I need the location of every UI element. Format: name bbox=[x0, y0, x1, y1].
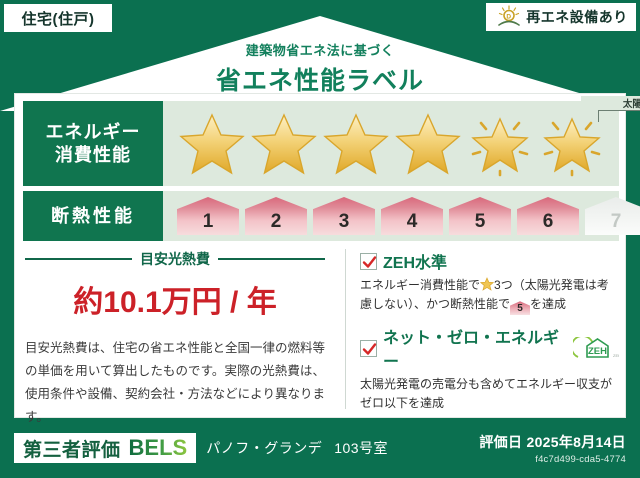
evaluation-date-value: 2025年8月14日 bbox=[526, 434, 626, 450]
bels-plate: 第三者評価 BELS bbox=[14, 433, 196, 463]
utility-cost-heading-label: 目安光熱費 bbox=[140, 249, 210, 269]
net-zero-energy-header: ネット・ゼロ・エネルギー ZEH ZEH bbox=[360, 324, 619, 372]
insulation-level-value: 4 bbox=[407, 211, 418, 233]
bels-logo-text: BELS bbox=[129, 435, 188, 461]
evaluation-date-label: 評価日 bbox=[479, 434, 522, 450]
solar-portion-bracket bbox=[598, 110, 640, 122]
zeh-standard-title: ZEH水準 bbox=[383, 249, 447, 273]
zeh-standard-body: エネルギー消費性能で3つ（太陽光発電は考慮しない）、かつ断熱性能で5を達成 bbox=[360, 276, 619, 315]
zeh-body-part3: を達成 bbox=[530, 297, 566, 311]
zeh-logo-icon: ZEH ZEH bbox=[573, 337, 619, 359]
net-zero-energy-body: 太陽光発電の売電分も含めてエネルギー収支がゼロ以下を達成 bbox=[360, 375, 619, 413]
insulation-level-badge: 1 bbox=[177, 197, 239, 235]
star-icon bbox=[321, 109, 391, 179]
insulation-level-value: 6 bbox=[543, 211, 554, 233]
star-icon bbox=[177, 109, 247, 179]
net-zero-energy-title: ネット・ゼロ・エネルギー bbox=[383, 324, 567, 372]
solar-portion-caption: 太陽光発電(自家消費)分 bbox=[581, 96, 640, 110]
star-icon bbox=[393, 109, 463, 179]
utility-cost-heading: 目安光熱費 bbox=[25, 249, 325, 269]
star-icon bbox=[249, 109, 319, 179]
renewable-equipment-label: 再エネ設備あり bbox=[526, 7, 628, 27]
insulation-level-value: 1 bbox=[203, 211, 214, 233]
zeh-standard-header: ZEH水準 bbox=[360, 249, 619, 273]
insulation-level-value: 2 bbox=[271, 211, 282, 233]
title-subtitle: 建築物省エネ法に基づく bbox=[0, 40, 640, 59]
zeh-standard-block: ZEH水準 エネルギー消費性能で3つ（太陽光発電は考慮しない）、かつ断熱性能で5… bbox=[360, 249, 619, 315]
rule-right bbox=[218, 258, 325, 260]
insulation-level-inline-badge: 5 bbox=[510, 301, 530, 315]
insulation-level-badge: 6 bbox=[517, 197, 579, 235]
energy-performance-label: エネルギー 消費性能 bbox=[23, 101, 163, 186]
label-main-card: エネルギー 消費性能 太陽光発電(自家消費)分 bbox=[14, 93, 626, 418]
insulation-level-badge: 5 bbox=[449, 197, 511, 235]
property-name: パノフ・グランデ bbox=[206, 438, 322, 458]
star-icon-solar bbox=[537, 109, 607, 179]
insulation-level-value: 5 bbox=[475, 211, 486, 233]
certification-checks-section: ZEH水準 エネルギー消費性能で3つ（太陽光発電は考慮しない）、かつ断熱性能で5… bbox=[345, 249, 619, 409]
checkbox-checked-icon bbox=[360, 340, 377, 357]
svg-text:ZEH: ZEH bbox=[588, 346, 607, 357]
property-unit: 103号室 bbox=[334, 438, 388, 458]
utility-cost-section: 目安光熱費 約10.1万円 / 年 目安光熱費は、住宅の省エネ性能と全国一律の燃… bbox=[25, 249, 325, 409]
label-title-group: 建築物省エネ法に基づく 省エネ性能ラベル bbox=[0, 40, 640, 97]
utility-cost-value: 約10.1万円 / 年 bbox=[25, 277, 325, 321]
checkbox-checked-icon bbox=[360, 253, 377, 270]
net-zero-energy-block: ネット・ゼロ・エネルギー ZEH ZEH 太陽光発電の売電分も含めてエネルギー収… bbox=[360, 324, 619, 413]
energy-stars-container: 太陽光発電(自家消費)分 bbox=[163, 101, 619, 186]
renewable-equipment-badge: D 再エネ設備あり bbox=[486, 3, 636, 31]
evaluation-info: 評価日 2025年8月14日 f4c7d499-cda5-4774 bbox=[479, 432, 626, 465]
page-title: 省エネ性能ラベル bbox=[0, 61, 640, 97]
insulation-level-badge-inactive: 7 bbox=[585, 197, 640, 235]
inline-badge-value: 5 bbox=[517, 303, 523, 314]
solar-sun-icon: D bbox=[496, 5, 522, 29]
housing-type-label: 住宅(住戸) bbox=[22, 8, 95, 29]
star-icon-solar bbox=[465, 109, 535, 179]
energy-performance-row: エネルギー 消費性能 太陽光発電(自家消費)分 bbox=[23, 101, 619, 186]
utility-cost-note: 目安光熱費は、住宅の省エネ性能と全国一律の燃料等の単価を用いて算出したものです。… bbox=[25, 337, 325, 430]
evaluation-id: f4c7d499-cda5-4774 bbox=[479, 454, 626, 465]
star-icon-inline bbox=[480, 277, 494, 291]
evaluation-date: 評価日 2025年8月14日 bbox=[479, 432, 626, 452]
housing-type-badge: 住宅(住戸) bbox=[4, 4, 112, 32]
insulation-levels-container: 1 2 3 4 5 bbox=[163, 191, 640, 241]
zeh-body-part1: エネルギー消費性能で bbox=[360, 278, 480, 292]
rule-left bbox=[25, 258, 132, 260]
energy-label-line1: エネルギー bbox=[46, 121, 141, 144]
energy-label-root: 建築物省エネ法に基づく 省エネ性能ラベル 住宅(住戸) D 再エネ設備あり bbox=[0, 0, 640, 478]
energy-label-line2: 消費性能 bbox=[55, 144, 131, 167]
insulation-performance-label: 断熱性能 bbox=[23, 191, 163, 241]
insulation-level-value: 7 bbox=[611, 211, 622, 233]
insulation-level-value: 3 bbox=[339, 211, 350, 233]
svg-text:D: D bbox=[507, 14, 512, 21]
insulation-performance-row: 断熱性能 1 2 3 4 bbox=[23, 191, 619, 241]
insulation-level-badge: 3 bbox=[313, 197, 375, 235]
svg-text:ZEH: ZEH bbox=[613, 353, 619, 358]
third-party-eval-label: 第三者評価 bbox=[23, 435, 121, 462]
insulation-level-badge: 4 bbox=[381, 197, 443, 235]
insulation-level-badge: 2 bbox=[245, 197, 307, 235]
